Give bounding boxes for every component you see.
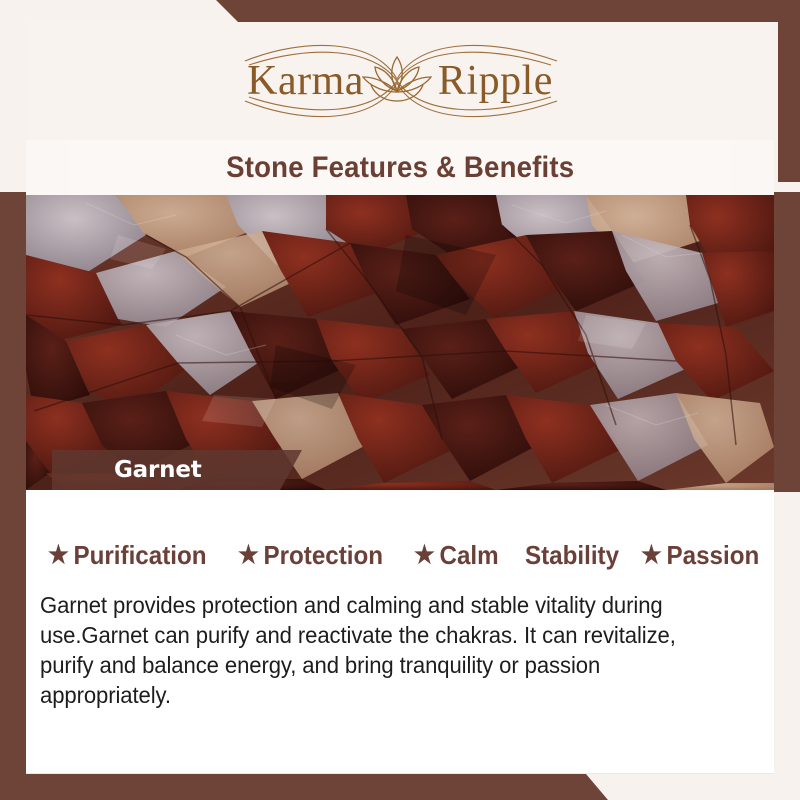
infographic-card: Karma Ripple Stone Features & Benefits <box>0 0 800 800</box>
content-divider <box>26 773 774 774</box>
frame-bar-top-right <box>778 0 800 182</box>
benefit-label: Protection <box>264 540 384 571</box>
page-title: Stone Features & Benefits <box>226 151 574 185</box>
inner-page: Karma Ripple Stone Features & Benefits <box>26 22 774 774</box>
photo-caption-banner: Garnet <box>52 450 302 490</box>
frame-bar-top <box>0 0 800 22</box>
content-area: ★Purification ★Protection ★Calm ★Stabili… <box>26 490 774 774</box>
description-text: Garnet provides protection and calming a… <box>40 590 719 710</box>
benefit-label: Passion <box>666 540 759 571</box>
brand-name-right: Ripple <box>438 57 553 105</box>
frame-bar-bottom <box>0 774 800 800</box>
benefit-item-passion: ★Passion <box>641 540 759 571</box>
brand-logo: Karma Ripple <box>26 22 774 140</box>
benefit-item-purification: ★Purification <box>48 540 207 571</box>
brand-name-left: Karma <box>247 57 364 105</box>
brand-logo-inner: Karma Ripple <box>185 35 615 127</box>
frame-bar-right <box>774 192 800 492</box>
benefit-label: Stability <box>525 540 619 571</box>
benefit-item-protection: ★Protection <box>238 540 383 571</box>
benefit-label: Purification <box>74 540 207 571</box>
star-icon: ★ <box>48 543 69 568</box>
star-icon: ★ <box>414 543 435 568</box>
title-panel: Stone Features & Benefits <box>70 140 730 196</box>
frame-bar-left <box>0 192 26 782</box>
benefit-label: Calm <box>440 540 499 571</box>
star-icon: ★ <box>641 543 662 568</box>
stone-photo: Garnet <box>26 195 774 490</box>
benefit-item-calm: ★Calm <box>414 540 499 571</box>
star-icon: ★ <box>238 543 259 568</box>
garnet-crystals-image <box>26 195 774 490</box>
benefits-list: ★Purification ★Protection ★Calm ★Stabili… <box>48 540 768 571</box>
stone-name: Garnet <box>114 457 202 483</box>
benefit-item-stability: ★Stability <box>525 540 619 571</box>
